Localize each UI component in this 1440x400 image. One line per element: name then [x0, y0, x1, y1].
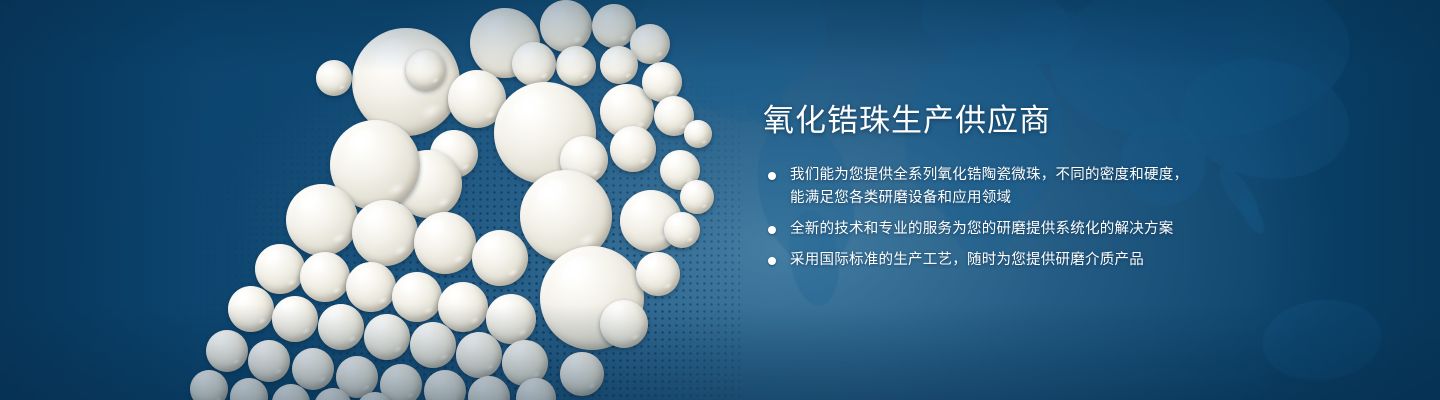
zirconia-bead [560, 352, 604, 396]
bullet-dot-icon [768, 257, 776, 265]
zirconia-bead [248, 340, 290, 382]
zirconia-bead [364, 314, 410, 360]
zirconia-bead [392, 272, 442, 322]
zirconia-bead [272, 296, 318, 342]
zirconia-bead [680, 180, 714, 214]
bullet-dot-icon [768, 226, 776, 234]
bullet-dot-icon [768, 172, 776, 180]
zirconia-bead [472, 230, 528, 286]
zirconia-bead [512, 42, 556, 86]
banner-bullet-item: 采用国际标准的生产工艺，随时为您提供研磨介质产品 [763, 249, 1383, 272]
zirconia-bead [255, 244, 305, 294]
zirconia-bead [410, 322, 456, 368]
zirconia-bead [206, 330, 248, 372]
banner-bullet-list: 我们能为您提供全系列氧化锆陶瓷微珠，不同的密度和硬度，能满足您各类研磨设备和应用… [763, 164, 1383, 272]
zirconia-bead [600, 46, 638, 84]
zirconia-bead [636, 252, 680, 296]
zirconia-bead-cluster [0, 0, 760, 400]
zirconia-bead [352, 200, 418, 266]
bullet-text-line: 全新的技术和专业的服务为您的研磨提供系统化的解决方案 [790, 218, 1383, 241]
zirconia-bead [664, 212, 700, 248]
zirconia-bead [230, 378, 268, 400]
zirconia-bead [414, 212, 476, 274]
zirconia-bead [300, 252, 350, 302]
map-region-australia [1258, 294, 1386, 386]
banner-bullet-item: 我们能为您提供全系列氧化锆陶瓷微珠，不同的密度和硬度，能满足您各类研磨设备和应用… [763, 164, 1383, 210]
zirconia-bead [292, 348, 334, 390]
zirconia-bead [456, 332, 502, 378]
zirconia-bead [228, 286, 274, 332]
zirconia-bead [610, 126, 656, 172]
zirconia-bead [424, 370, 466, 400]
zirconia-bead [190, 370, 228, 400]
zirconia-bead [600, 300, 648, 348]
banner-title: 氧化锆珠生产供应商 [763, 104, 1383, 138]
zirconia-bead [468, 376, 510, 400]
bullet-text-line: 采用国际标准的生产工艺，随时为您提供研磨介质产品 [790, 249, 1383, 272]
zirconia-bead [316, 60, 352, 96]
zirconia-bead [346, 262, 396, 312]
zirconia-bead [684, 120, 712, 148]
zirconia-bead [556, 46, 596, 86]
zirconia-bead [406, 50, 446, 90]
hero-banner: 氧化锆珠生产供应商 我们能为您提供全系列氧化锆陶瓷微珠，不同的密度和硬度，能满足… [0, 0, 1440, 400]
banner-content: 氧化锆珠生产供应商 我们能为您提供全系列氧化锆陶瓷微珠，不同的密度和硬度，能满足… [763, 104, 1383, 272]
zirconia-bead [286, 184, 358, 256]
zirconia-bead [438, 282, 488, 332]
banner-bullet-item: 全新的技术和专业的服务为您的研磨提供系统化的解决方案 [763, 218, 1383, 241]
zirconia-bead [540, 0, 592, 52]
zirconia-bead [380, 364, 422, 400]
zirconia-bead [318, 304, 364, 350]
bullet-text-line: 能满足您各类研磨设备和应用领域 [790, 187, 1383, 210]
bullet-text-line: 我们能为您提供全系列氧化锆陶瓷微珠，不同的密度和硬度， [790, 164, 1383, 187]
